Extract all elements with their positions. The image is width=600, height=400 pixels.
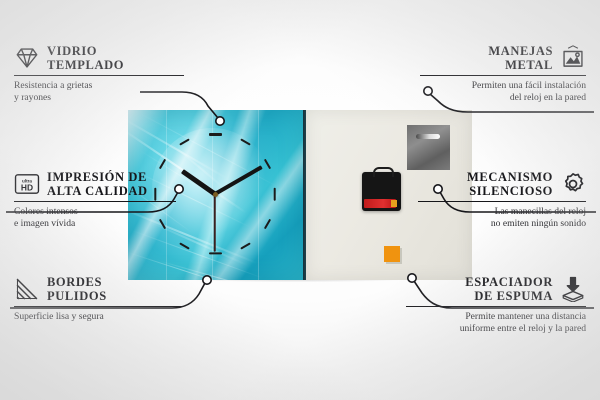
callout-subtitle-line2: uniforme entre el reloj y la pared [406,323,586,335]
callout-vidrio-templado[interactable]: VIDRIO TEMPLADO Resistencia a grietas y … [14,44,184,104]
callout-rule [14,75,184,76]
svg-text:HD: HD [21,183,33,193]
diamond-icon [14,45,40,71]
clock-mechanism [362,172,401,211]
callout-subtitle-line1: Permite mantener una distancia [406,311,586,323]
callout-rule [14,306,184,307]
callout-subtitle-line2: no emiten ningún sonido [418,218,586,230]
clock-second-hand [214,194,216,252]
gear-icon [560,171,586,197]
callout-subtitle-line1: Colores intensos [14,206,176,218]
callout-title-line2: DE ESPUMA [465,289,553,303]
clock-tick [209,252,222,254]
callout-title-line2: METAL [488,58,553,72]
callout-title-line1: VIDRIO [47,44,124,58]
callout-title-line2: PULIDOS [47,289,107,303]
callout-title-line1: IMPRESIÓN DE [47,170,148,184]
callout-rule [406,306,586,307]
callout-bordes-pulidos[interactable]: BORDES PULIDOS Superficie lisa y segura [14,275,184,323]
callout-title-line1: BORDES [47,275,107,289]
callout-subtitle-line2: del reloj en la pared [420,92,586,104]
clock-tick [240,243,251,250]
callout-rule [14,201,176,202]
callout-title-line2: TEMPLADO [47,58,124,72]
callout-rule [420,75,586,76]
callout-title-line2: ALTA CALIDAD [47,184,148,198]
callout-subtitle-line1: Superficie lisa y segura [14,311,184,323]
callout-title-line1: ESPACIADOR [465,275,553,289]
clock-tick [264,219,271,230]
callout-subtitle-line2: y rayones [14,92,184,104]
callout-subtitle-line1: Resistencia a grietas [14,80,184,92]
callout-title-line1: MECANISMO [467,170,553,184]
polished-edges-icon [14,276,40,302]
clock-tick [273,187,275,200]
callout-mecanismo-silencioso[interactable]: MECANISMO SILENCIOSO Las manecillas del … [418,170,586,230]
callout-title-line2: SILENCIOSO [467,184,553,198]
callout-manejas-metal[interactable]: MANEJAS METAL Permiten una fácil instala… [420,44,586,104]
callout-rule [418,201,586,202]
callout-subtitle-line1: Las manecillas del reloj [418,206,586,218]
ultra-hd-icon: ultra HD [14,171,40,197]
callout-impresion-alta-calidad[interactable]: ultra HD IMPRESIÓN DE ALTA CALIDAD Color… [14,170,176,230]
callout-title-line1: MANEJAS [488,44,553,58]
callout-subtitle-line2: e imagen vívida [14,218,176,230]
callout-espaciador-espuma[interactable]: ESPACIADOR DE ESPUMA Permite mantener un… [406,275,586,335]
callout-subtitle-line1: Permiten una fácil instalación [420,80,586,92]
picture-hanger-icon [560,45,586,71]
metal-hanger-plate [407,125,450,170]
clock-pivot [213,192,218,197]
foam-spacer-pad [384,246,400,262]
infographic-canvas: VIDRIO TEMPLADO Resistencia a grietas y … [0,0,600,400]
foam-spacer-icon [560,276,586,302]
